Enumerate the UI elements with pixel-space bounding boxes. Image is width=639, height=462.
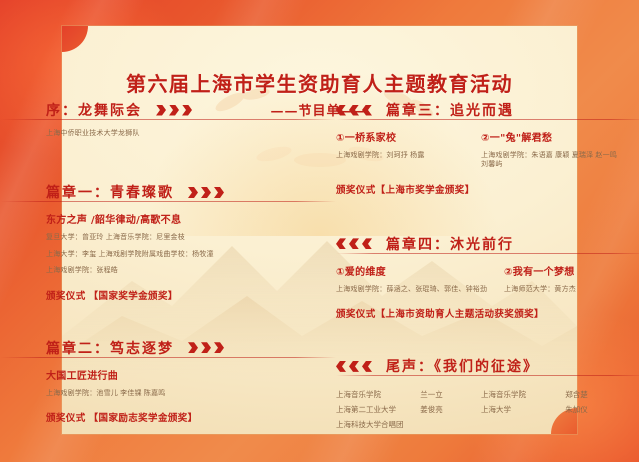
- finale-name: 朱加仪: [565, 402, 626, 417]
- program-item: 东方之声 /韶华律动/高歌不息 复旦大学：曾亚玲 上海音乐学院：尼里金枝 上海大…: [46, 211, 336, 275]
- table-row: 上海科技大学合唱团: [336, 417, 626, 432]
- section-block-prologue: 序：龙舞际会 上海中侨职业技术大学龙狮队: [46, 98, 336, 138]
- program-pair: ①一桥系家校 上海戏剧学院：刘珂抒 杨露 ②一"兔"解君愁 上海戏剧学院：朱语嘉…: [336, 129, 626, 170]
- chevron-left-icon: [336, 238, 372, 249]
- program-item: ①一桥系家校 上海戏剧学院：刘珂抒 杨露: [336, 129, 481, 170]
- award-ceremony-label: 颁奖仪式【上海市奖学金颁奖】: [336, 182, 626, 196]
- section-rule: [336, 253, 639, 254]
- program-title: 东方之声 /韶华律动/高歌不息: [46, 211, 336, 226]
- section-header: 序：龙舞际会: [46, 98, 336, 122]
- program-title: ②我有一个梦想: [504, 263, 626, 278]
- table-row: 上海音乐学院 兰一立 上海音乐学院 郑含楚: [336, 387, 626, 402]
- finale-name: 姜俊亮: [420, 402, 481, 417]
- right-column: 篇章三：追光而遇 ①一桥系家校 上海戏剧学院：刘珂抒 杨露 ②一"兔"解君愁 上…: [336, 98, 626, 434]
- section-header: 篇章三：追光而遇: [336, 98, 626, 122]
- section-title: 篇章二：笃志逐梦: [46, 338, 174, 358]
- award-ceremony-label: 颁奖仪式【上海市资助育人主题活动获奖颁奖】: [336, 306, 626, 320]
- section-header: 篇章二：笃志逐梦: [46, 336, 336, 360]
- program-title: ②一"兔"解君愁: [481, 129, 626, 144]
- performer-line: 复旦大学：曾亚玲 上海音乐学院：尼里金枝: [46, 233, 336, 242]
- section-rule: [336, 375, 639, 376]
- chevron-right-icon: [156, 105, 192, 116]
- program-columns: 序：龙舞际会 上海中侨职业技术大学龙狮队 篇章一：青春璨歌: [0, 98, 639, 418]
- award-ceremony-label: 颁奖仪式 【国家奖学金颁奖】: [46, 288, 336, 302]
- performer-line: 上海戏剧学院：朱语嘉 康颖 夏瑞泽 赵一鸣 刘馨屿: [481, 151, 626, 170]
- program-item: ②我有一个梦想 上海师范大学：黄方杰: [504, 263, 626, 294]
- performer-line: 上海戏剧学院：薛涵之、张琨琦、郭佳、钟裕劲: [336, 285, 504, 294]
- section-title: 尾声：《我们的征途》: [386, 356, 539, 376]
- program-title: ①爱的维度: [336, 263, 504, 278]
- performer-line: 上海戏剧学院：池雪儿 李佳锞 陈嘉鸣: [46, 389, 336, 398]
- section-title: 篇章四：沐光前行: [386, 234, 514, 254]
- performer-line: 上海大学：李玺 上海戏剧学院附属戏曲学校：杨牧潼: [46, 250, 336, 259]
- left-column: 序：龙舞际会 上海中侨职业技术大学龙狮队 篇章一：青春璨歌: [46, 98, 336, 426]
- section-header: 篇章四：沐光前行: [336, 232, 626, 256]
- section-title: 篇章一：青春璨歌: [46, 182, 174, 202]
- section-block-chapter-four: 篇章四：沐光前行 ①爱的维度 上海戏剧学院：薛涵之、张琨琦、郭佳、钟裕劲 ②我有…: [336, 232, 626, 320]
- page-title: 第六届上海市学生资助育人主题教育活动: [62, 68, 577, 97]
- program-title: ①一桥系家校: [336, 129, 481, 144]
- program-title: 大国工匠进行曲: [46, 367, 336, 382]
- finale-org: 上海第二工业大学: [336, 402, 420, 417]
- program-item: ①爱的维度 上海戏剧学院：薛涵之、张琨琦、郭佳、钟裕劲: [336, 263, 504, 294]
- finale-performer-table: 上海音乐学院 兰一立 上海音乐学院 郑含楚 上海第二工业大学 姜俊亮 上海大学 …: [336, 387, 626, 432]
- finale-org: 上海大学: [481, 402, 565, 417]
- chevron-left-icon: [336, 361, 372, 372]
- section-block-chapter-two: 篇章二：笃志逐梦 大国工匠进行曲 上海戏剧学院：池雪儿 李佳锞 陈嘉鸣 颁奖仪式…: [46, 336, 336, 424]
- section-header: 篇章一：青春璨歌: [46, 180, 336, 204]
- table-row: 上海第二工业大学 姜俊亮 上海大学 朱加仪: [336, 402, 626, 417]
- section-rule: [0, 119, 336, 120]
- performer-line: 上海戏剧学院：张程皓: [46, 266, 336, 275]
- finale-name: 兰一立: [420, 387, 481, 402]
- chevron-left-icon: [336, 105, 372, 116]
- section-rule: [336, 119, 639, 120]
- section-block-finale: 尾声：《我们的征途》 上海音乐学院 兰一立 上海音乐学院 郑含楚 上海第二工业大…: [336, 354, 626, 432]
- section-title: 篇章三：追光而遇: [386, 100, 514, 120]
- section-header: 尾声：《我们的征途》: [336, 354, 626, 378]
- finale-org: 上海音乐学院: [336, 387, 420, 402]
- poster-canvas: 第六届上海市学生资助育人主题教育活动 ——节目单—— 序：龙舞际会 上海中侨职业…: [0, 0, 639, 462]
- chevron-right-icon: [188, 342, 224, 353]
- section-rule: [0, 201, 336, 202]
- section-title: 序：龙舞际会: [46, 100, 142, 120]
- program-pair: ①爱的维度 上海戏剧学院：薛涵之、张琨琦、郭佳、钟裕劲 ②我有一个梦想 上海师范…: [336, 263, 626, 294]
- program-item: ②一"兔"解君愁 上海戏剧学院：朱语嘉 康颖 夏瑞泽 赵一鸣 刘馨屿: [481, 129, 626, 170]
- section-rule: [0, 357, 336, 358]
- finale-org: 上海音乐学院: [481, 387, 565, 402]
- performer-line: 上海中侨职业技术大学龙狮队: [46, 129, 336, 138]
- finale-name: 郑含楚: [565, 387, 626, 402]
- performer-line: 上海戏剧学院：刘珂抒 杨露: [336, 151, 481, 160]
- chevron-right-icon: [188, 187, 224, 198]
- program-item: 大国工匠进行曲 上海戏剧学院：池雪儿 李佳锞 陈嘉鸣: [46, 367, 336, 398]
- finale-org: 上海科技大学合唱团: [336, 417, 404, 432]
- award-ceremony-label: 颁奖仪式 【国家励志奖学金颁奖】: [46, 410, 336, 424]
- performer-line: 上海师范大学：黄方杰: [504, 285, 626, 294]
- section-block-chapter-one: 篇章一：青春璨歌 东方之声 /韶华律动/高歌不息 复旦大学：曾亚玲 上海音乐学院…: [46, 180, 336, 301]
- section-block-chapter-three: 篇章三：追光而遇 ①一桥系家校 上海戏剧学院：刘珂抒 杨露 ②一"兔"解君愁 上…: [336, 98, 626, 196]
- program-item: 上海中侨职业技术大学龙狮队: [46, 129, 336, 138]
